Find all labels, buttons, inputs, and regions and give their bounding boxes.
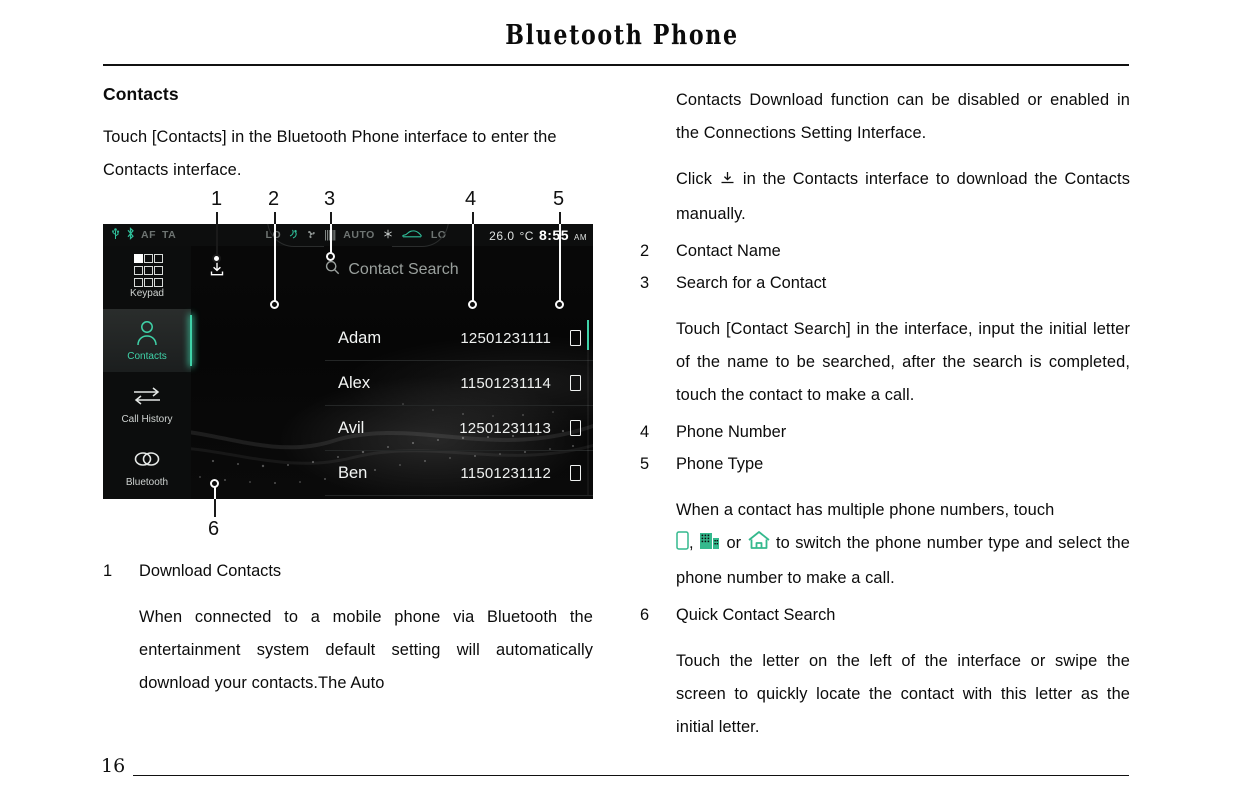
- callout-4-leader-bottom: [472, 224, 474, 304]
- callout-3-number: 3: [324, 188, 335, 211]
- device-sidebar: Keypad Contacts Call History Bluetooth: [103, 246, 191, 499]
- callout-1-leader: [216, 212, 218, 256]
- contact-name: Alex: [338, 374, 370, 393]
- status-left-group: AF TA: [103, 227, 243, 243]
- mobile-phone-icon: [676, 529, 689, 562]
- numbered-item-6: 6 Quick Contact Search: [640, 599, 1130, 631]
- section-heading: Contacts: [103, 84, 593, 105]
- callout-2-number: 2: [268, 188, 279, 211]
- scrollbar-thumb[interactable]: [587, 320, 589, 350]
- contact-row[interactable]: Kitty11501231115: [325, 496, 593, 499]
- callout-6-leader-bottom: [214, 499, 216, 517]
- numbered-item-4: 4 Phone Number: [640, 416, 1130, 448]
- phone-type-paragraph: When a contact has multiple phone number…: [676, 494, 1130, 595]
- clock-time: 8:55: [539, 227, 569, 243]
- left-column-items: 1 Download Contacts When connected to a …: [103, 555, 593, 704]
- item-label: Phone Number: [676, 416, 1130, 448]
- contact-name: Avil: [338, 419, 364, 438]
- keypad-grid-icon: [134, 256, 161, 284]
- status-climate-group: LO |||||| AUTO LO: [243, 229, 469, 242]
- temperature-value: 26.0: [489, 229, 514, 243]
- download-icon: [719, 165, 736, 198]
- page-number: 16: [101, 755, 125, 777]
- contact-row[interactable]: Adam12501231111: [325, 316, 593, 361]
- callout-6-dot: [210, 479, 219, 488]
- mobile-phone-icon[interactable]: [570, 375, 581, 391]
- item-number: 5: [640, 448, 676, 480]
- item-label: Phone Type: [676, 448, 1130, 480]
- callout-4-number: 4: [465, 188, 476, 211]
- item-label: Search for a Contact: [676, 267, 1130, 299]
- phone-type-text-2: to switch the phone number type and sele…: [676, 534, 1130, 587]
- item-number: 6: [640, 599, 676, 631]
- callout-6-number: 6: [208, 518, 219, 541]
- callout-4-dot: [468, 300, 477, 309]
- header-rule: [103, 64, 1129, 66]
- phone-number: 11501231114: [460, 375, 551, 392]
- phone-type-or: or: [726, 534, 741, 552]
- left-column: Contacts Touch [Contacts] in the Bluetoo…: [103, 84, 593, 191]
- contact-search-placeholder: Contact Search: [348, 261, 458, 279]
- contact-name: Ben: [338, 464, 367, 483]
- phone-number: 11501231112: [460, 465, 551, 482]
- phone-number: 12501231113: [459, 420, 551, 437]
- numbered-item-2: 2 Contact Name: [640, 235, 1130, 267]
- exchange-arrows-icon: [132, 382, 162, 410]
- callout-5-leader-bottom: [559, 224, 561, 304]
- callout-2-leader-bottom: [274, 224, 276, 304]
- item-number: 4: [640, 416, 676, 448]
- item-number: 2: [640, 235, 676, 267]
- continuation-paragraph: Contacts Download function can be disabl…: [676, 84, 1130, 150]
- person-icon: [135, 319, 159, 347]
- sidebar-item-keypad[interactable]: Keypad: [103, 246, 191, 309]
- sidebar-item-label: Keypad: [130, 288, 164, 299]
- sidebar-item-call-history[interactable]: Call History: [103, 372, 191, 435]
- infotainment-screenshot: AF TA LO |||||| AUTO: [103, 224, 593, 499]
- item-number: 3: [640, 267, 676, 299]
- bluetooth-icon: [126, 227, 135, 243]
- contact-name: Adam: [338, 329, 381, 348]
- callout-4-leader-top: [472, 212, 474, 224]
- numbered-item-1: 1 Download Contacts: [103, 555, 593, 587]
- right-column: Contacts Download function can be disabl…: [640, 84, 1130, 748]
- linked-circles-icon: [132, 445, 162, 473]
- af-indicator: AF: [141, 229, 156, 241]
- item-label: Contact Name: [676, 235, 1130, 267]
- sidebar-item-label: Contacts: [127, 351, 166, 362]
- contact-search-field[interactable]: Contact Search: [191, 246, 593, 294]
- item-6-body: Touch the letter on the left of the inte…: [676, 645, 1130, 744]
- callout-1-dot: [212, 254, 221, 263]
- callout-5-dot: [555, 300, 564, 309]
- contact-row[interactable]: Avil12501231113: [325, 406, 593, 451]
- numbered-item-3: 3 Search for a Contact: [640, 267, 1130, 299]
- click-download-paragraph: Click in the Contacts interface to downl…: [676, 163, 1130, 231]
- item-3-body: Touch [Contact Search] in the interface,…: [676, 313, 1130, 412]
- item-number: 1: [103, 555, 139, 587]
- callout-3-dot: [326, 252, 335, 261]
- callout-3-leader-top: [330, 212, 332, 224]
- status-right-group: 26.0 °C 8:55 AM: [469, 227, 593, 243]
- sidebar-item-label: Call History: [121, 414, 172, 425]
- click-text-after: in the Contacts interface to download th…: [676, 170, 1130, 223]
- ta-indicator: TA: [162, 229, 176, 241]
- mobile-phone-icon[interactable]: [570, 330, 581, 346]
- phone-type-comma: ,: [689, 534, 694, 552]
- callout-1-number: 1: [211, 188, 222, 211]
- callout-2-dot: [270, 300, 279, 309]
- phone-number: 12501231111: [460, 330, 551, 347]
- right-arc-divider: [392, 224, 449, 247]
- clock-ampm: AM: [574, 233, 587, 242]
- office-building-icon: [699, 529, 721, 562]
- sidebar-item-contacts[interactable]: Contacts: [103, 309, 191, 372]
- item-1-body: When connected to a mobile phone via Blu…: [139, 601, 593, 700]
- callout-5-leader-top: [559, 212, 561, 224]
- item-label: Quick Contact Search: [676, 599, 1130, 631]
- footer-rule: [133, 775, 1129, 776]
- numbered-item-5: 5 Phone Type: [640, 448, 1130, 480]
- mobile-phone-icon[interactable]: [570, 465, 581, 481]
- usb-icon: [111, 228, 120, 243]
- manual-page: Bluetooth Phone Contacts Touch [Contacts…: [0, 0, 1244, 787]
- status-bar: AF TA LO |||||| AUTO: [103, 224, 593, 246]
- callout-5-number: 5: [553, 188, 564, 211]
- temperature-unit: °C: [520, 229, 534, 243]
- contact-row[interactable]: Alex11501231114: [325, 361, 593, 406]
- page-title: Bluetooth Phone: [112, 20, 1132, 51]
- sidebar-item-label: Bluetooth: [126, 477, 168, 488]
- click-text-before: Click: [676, 170, 712, 188]
- contact-row[interactable]: Ben11501231112: [325, 451, 593, 496]
- contact-list: Adam12501231111Alex11501231114Avil125012…: [325, 316, 593, 499]
- intro-paragraph: Touch [Contacts] in the Bluetooth Phone …: [103, 121, 593, 187]
- item-label: Download Contacts: [139, 555, 593, 587]
- auto-label: AUTO: [343, 229, 375, 241]
- callout-2-leader-top: [274, 212, 276, 224]
- home-icon: [747, 529, 771, 562]
- mobile-phone-icon[interactable]: [570, 420, 581, 436]
- phone-type-text-1: When a contact has multiple phone number…: [676, 501, 1054, 519]
- search-icon: [325, 260, 340, 280]
- sidebar-item-bluetooth[interactable]: Bluetooth: [103, 435, 191, 498]
